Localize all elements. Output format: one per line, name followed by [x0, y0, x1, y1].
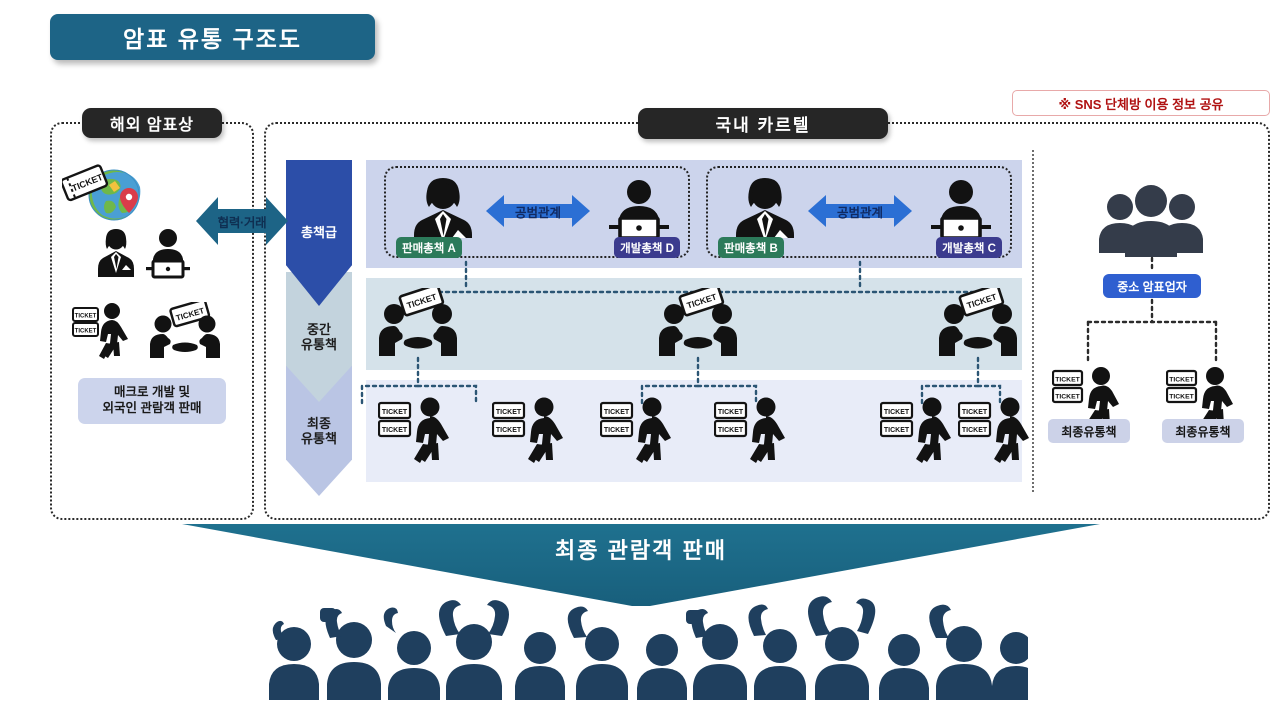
svg-text:TICKET: TICKET	[884, 409, 910, 416]
domestic-cartel-header: 국내 카르텔	[638, 108, 888, 139]
badge-developer-c: 개발총책 C	[936, 237, 1002, 258]
sme-final-distributor-label-2: 최종유통책	[1162, 419, 1244, 443]
tier2-label-line2: 유통책	[301, 337, 337, 352]
svg-text:TICKET: TICKET	[604, 409, 630, 416]
globe-ticket-icon: TICKET	[62, 163, 148, 225]
macro-note-line2: 외국인 관람객 판매	[103, 401, 202, 417]
sme-badge-text: 중소 암표업자	[1117, 278, 1187, 295]
hierarchy-tier-arrow: 최종 유통책 중간 유통책 총책급	[286, 160, 352, 496]
svg-text:TICKET: TICKET	[496, 409, 522, 416]
funnel-label: 최종 관람객 판매	[182, 533, 1100, 565]
svg-text:TICKET: TICKET	[382, 409, 408, 416]
sme-final-distributor-text-2: 최종유통책	[1175, 423, 1230, 440]
cartel-header-text: 국내 카르텔	[716, 111, 811, 136]
suit-and-laptop-person-icon	[96, 225, 204, 283]
svg-text:TICKET: TICKET	[718, 427, 744, 434]
svg-text:TICKET: TICKET	[604, 427, 630, 434]
walking-person-with-tickets-icon: TICKET TICKET	[880, 395, 960, 467]
tier1-label-line1: 총책급	[301, 225, 337, 240]
sns-info-sharing-note: ※ SNS 단체방 이용 정보 공유	[1012, 90, 1270, 116]
svg-text:TICKET: TICKET	[496, 427, 522, 434]
svg-text:TICKET: TICKET	[1055, 394, 1080, 401]
badge-developer-d: 개발총책 D	[614, 237, 680, 258]
walking-person-with-tickets-icon: TICKET TICKET	[714, 395, 794, 467]
handshake-with-ticket-icon: TICKET	[652, 288, 744, 360]
macro-development-note: 매크로 개발 및 외국인 관람객 판매	[78, 378, 226, 424]
page-title-text: 암표 유통 구조도	[123, 20, 302, 54]
sme-scalper-badge: 중소 암표업자	[1103, 274, 1201, 298]
handshake-with-ticket-icon: TICKET	[932, 288, 1024, 360]
cooperation-trade-arrow: 협력·거래	[196, 185, 288, 257]
overseas-header-text: 해외 암표상	[110, 111, 194, 135]
accomplice-arrow-a: 공범관계	[486, 190, 590, 232]
accomplice-arrow-a-label: 공범관계	[486, 190, 590, 232]
sme-final-distributor-label-1: 최종유통책	[1048, 419, 1130, 443]
svg-text:TICKET: TICKET	[1169, 377, 1194, 384]
svg-text:TICKET: TICKET	[718, 409, 744, 416]
accomplice-arrow-b: 공범관계	[808, 190, 912, 232]
laptop-person-icon	[924, 178, 998, 240]
badge-seller-a-text: 판매총책 A	[402, 240, 456, 256]
boss-group-a: 판매총책 A 공범관계 개발총책 D	[384, 166, 690, 258]
handshake-with-ticket-icon: TICKET	[372, 288, 464, 360]
laptop-person-icon	[602, 178, 676, 240]
tier3-label-line1: 최종	[307, 416, 331, 431]
walking-person-with-tickets-icon: TICKET TICKET	[492, 395, 572, 467]
svg-text:TICKET: TICKET	[75, 329, 97, 335]
badge-seller-b-text: 판매총책 B	[724, 240, 778, 256]
badge-seller-b: 판매총책 B	[718, 237, 784, 258]
svg-text:TICKET: TICKET	[884, 427, 910, 434]
sns-note-text: ※ SNS 단체방 이용 정보 공유	[1058, 94, 1223, 113]
people-group-icon	[1098, 185, 1204, 257]
svg-text:TICKET: TICKET	[962, 409, 988, 416]
svg-text:TICKET: TICKET	[382, 427, 408, 434]
badge-seller-a: 판매총책 A	[396, 237, 462, 258]
badge-developer-c-text: 개발총책 C	[942, 240, 996, 256]
sme-final-distributor-text-1: 최종유통책	[1061, 423, 1116, 440]
accomplice-arrow-b-label: 공범관계	[808, 190, 912, 232]
badge-developer-d-text: 개발총책 D	[620, 240, 674, 256]
svg-text:TICKET: TICKET	[75, 314, 97, 320]
overseas-panel-header: 해외 암표상	[82, 108, 222, 138]
svg-text:TICKET: TICKET	[1055, 377, 1080, 384]
tier2-label-line1: 중간	[307, 322, 331, 337]
walking-person-with-tickets-icon: TICKET TICKET	[72, 300, 134, 362]
suit-person-icon	[406, 176, 480, 238]
page-title: 암표 유통 구조도	[50, 14, 375, 60]
audience-crowd-icon	[268, 588, 1028, 700]
walking-person-with-tickets-icon: TICKET TICKET	[600, 395, 680, 467]
suit-person-icon	[728, 176, 802, 238]
walking-person-with-tickets-icon: TICKET TICKET	[378, 395, 458, 467]
svg-text:TICKET: TICKET	[1169, 394, 1194, 401]
cooperation-arrow-label: 협력·거래	[196, 185, 288, 257]
svg-text:TICKET: TICKET	[962, 427, 988, 434]
handshake-with-ticket-icon: TICKET	[142, 302, 228, 362]
walking-person-with-tickets-icon: TICKET TICKET	[958, 395, 1038, 467]
boss-group-b: 판매총책 B 공범관계 개발총책 C	[706, 166, 1012, 258]
tier3-label-line2: 유통책	[301, 431, 337, 446]
macro-note-line1: 매크로 개발 및	[114, 385, 190, 401]
